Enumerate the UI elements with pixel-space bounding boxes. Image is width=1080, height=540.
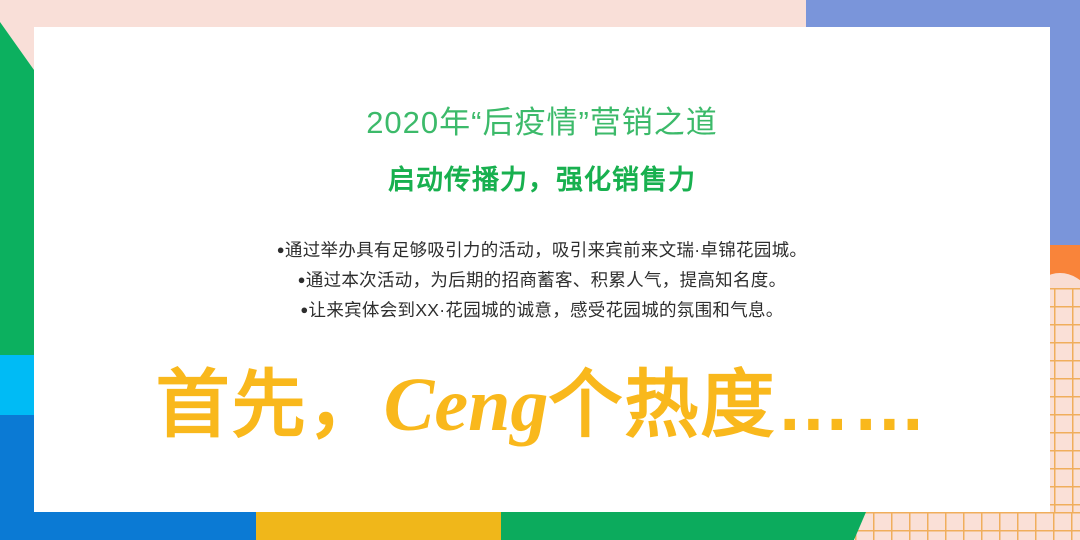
blue-right-band [1050,0,1080,245]
list-item: ●让来宾体会到XX·花园城的诚意，感受花园城的氛围和气息。 [34,295,1050,325]
green-bottom-band [501,512,866,540]
bullet-marker-icon: ● [300,302,308,317]
green-left-wedge [0,22,34,356]
slogan-ellipsis: …… [776,363,928,446]
blue-bottom-band [0,512,256,540]
bullet-list: ●通过举办具有足够吸引力的活动，吸引来宾前来文瑞·卓锦花园城。 ●通过本次活动，… [34,235,1050,325]
white-content-card: 2020年“后疫情”营销之道 启动传播力，强化销售力 ●通过举办具有足够吸引力的… [34,27,1050,512]
yellow-bottom-band [256,512,501,540]
pink-grid-bottom-panel [855,512,1080,540]
list-item-label: 通过举办具有足够吸引力的活动，吸引来宾前来文瑞·卓锦花园城。 [285,240,807,260]
slogan-prefix: 首先， [156,363,384,446]
slogan-suffix: 个热度 [548,363,776,446]
poster-canvas: 2020年“后疫情”营销之道 启动传播力，强化销售力 ●通过举办具有足够吸引力的… [0,0,1080,540]
bullet-marker-icon: ● [298,272,306,287]
page-subtitle: 启动传播力，强化销售力 [34,163,1050,198]
bullet-marker-icon: ● [277,242,285,257]
headline-block: 2020年“后疫情”营销之道 启动传播力，强化销售力 [34,103,1050,198]
list-item-label: 通过本次活动，为后期的招商蓄客、积累人气，提高知名度。 [306,270,787,290]
list-item: ●通过举办具有足够吸引力的活动，吸引来宾前来文瑞·卓锦花园城。 [34,235,1050,265]
slogan-line: 首先，Ceng个热度…… [34,367,1050,443]
slogan-english-word: Ceng [384,363,549,447]
cyan-left-band [0,355,34,415]
list-item-label: 让来宾体会到XX·花园城的诚意，感受花园城的氛围和气息。 [309,300,784,320]
page-title: 2020年“后疫情”营销之道 [34,103,1050,143]
list-item: ●通过本次活动，为后期的招商蓄客、积累人气，提高知名度。 [34,265,1050,295]
